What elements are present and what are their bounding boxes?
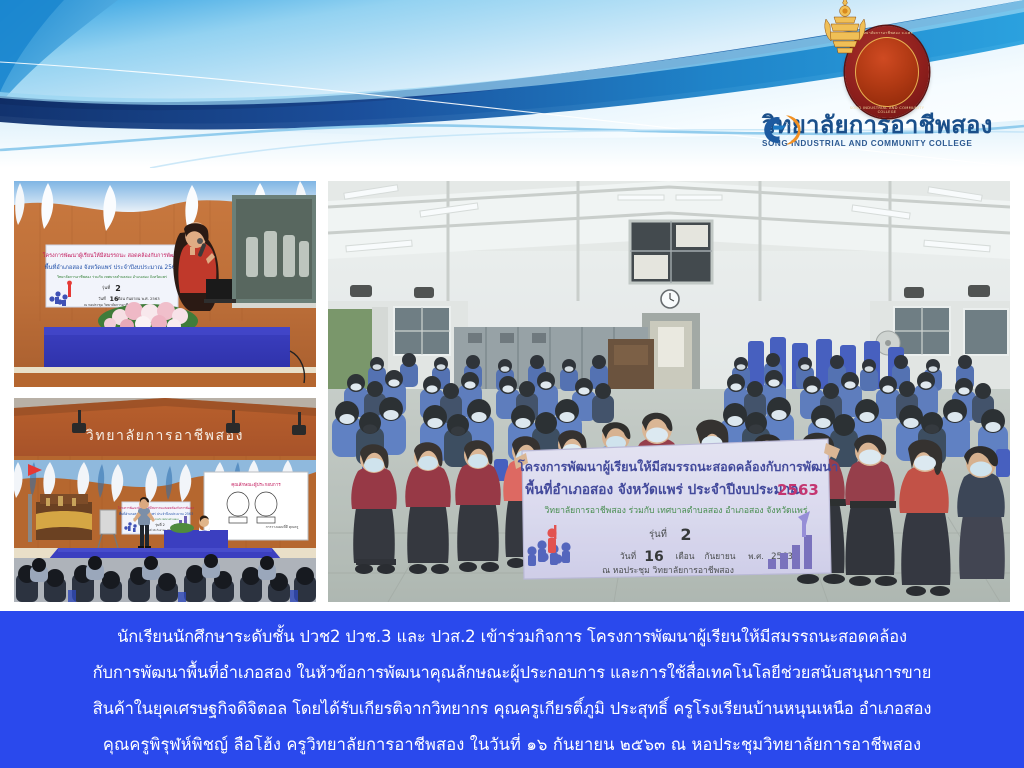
song-college-logo-mark-icon: [762, 113, 802, 147]
header-banner: วิทยาลัยการอาชีพสอง จ.แพร่ SONG INDUSTRI…: [0, 0, 1024, 168]
college-seal-icon: วิทยาลัยการอาชีพสอง จ.แพร่ SONG INDUSTRI…: [845, 26, 929, 118]
poster-page: วิทยาลัยการอาชีพสอง จ.แพร่ SONG INDUSTRI…: [0, 0, 1024, 768]
photo-audience-image: วิทยาลัยการอาชีพสอง: [14, 398, 316, 602]
photo-group: โครงการพัฒนาผู้เรียนให้มีสมรรถนะสอดคล้อง…: [325, 178, 1013, 605]
caption-line-4: คุณครูพิรุฬห์พิชญ์ ลือโฮ้ง ครูวิทยาลัยกา…: [16, 727, 1008, 763]
svg-text:วันที่: วันที่: [98, 296, 106, 301]
svg-text:คุณลักษณะผู้ประกอบการ: คุณลักษณะผู้ประกอบการ: [231, 481, 281, 488]
stage-sign-text: วิทยาลัยการอาชีพสอง: [86, 428, 244, 444]
svg-text:รุ่นที่: รุ่นที่: [102, 284, 110, 291]
college-logo: วิทยาลัยการอาชีพสอง SONG INDUSTRIAL AND …: [762, 113, 993, 148]
svg-text:เดือน กันยายน พ.ศ. 2563: เดือน กันยายน พ.ศ. 2563: [116, 296, 160, 301]
photo-speaker-image: โครงการพัฒนาผู้เรียนให้มีสมรรถนะ สอดคล้อ…: [14, 181, 316, 387]
caption-line-3: สินค้าในยุคเศรษฐกิจดิจิตอล โดยได้รับเกีย…: [16, 691, 1008, 727]
svg-text:2: 2: [115, 284, 121, 293]
photo-audience: วิทยาลัยการอาชีพสอง: [11, 395, 319, 605]
svg-text:วิทยาลัยการอาชีพสอง ร่วมกับ เท: วิทยาลัยการอาชีพสอง ร่วมกับ เทศบาลตำบลสอ…: [57, 274, 167, 279]
caption-line-2: กับการพัฒนาพื้นที่อำเภอสอง ในหัวข้อการพั…: [16, 655, 1008, 691]
svg-text:พื้นที่อำเภอสอง จังหวัดแพร่ ปร: พื้นที่อำเภอสอง จังหวัดแพร่ ประจำปีงบประ…: [119, 511, 193, 516]
svg-text:โครงการพัฒนาผู้เรียนให้มีสมรรถ: โครงการพัฒนาผู้เรียนให้มีสมรรถนะสอดคล้อง…: [118, 506, 195, 510]
photo-speaker: โครงการพัฒนาผู้เรียนให้มีสมรรถนะ สอดคล้อ…: [11, 178, 319, 390]
seal-emblem-icon: [824, 0, 866, 57]
caption-band: นักเรียนนักศึกษาระดับชั้น ปวช2 ปวช.3 และ…: [0, 611, 1024, 768]
photo-group-image: โครงการพัฒนาผู้เรียนให้มีสมรรถนะสอดคล้อง…: [328, 181, 1010, 602]
svg-text:โครงการพัฒนาผู้เรียนให้มีสมรรถ: โครงการพัฒนาผู้เรียนให้มีสมรรถนะ สอดคล้อ…: [43, 251, 182, 259]
caption-line-1: นักเรียนนักศึกษาระดับชั้น ปวช2 ปวช.3 และ…: [16, 619, 1008, 655]
